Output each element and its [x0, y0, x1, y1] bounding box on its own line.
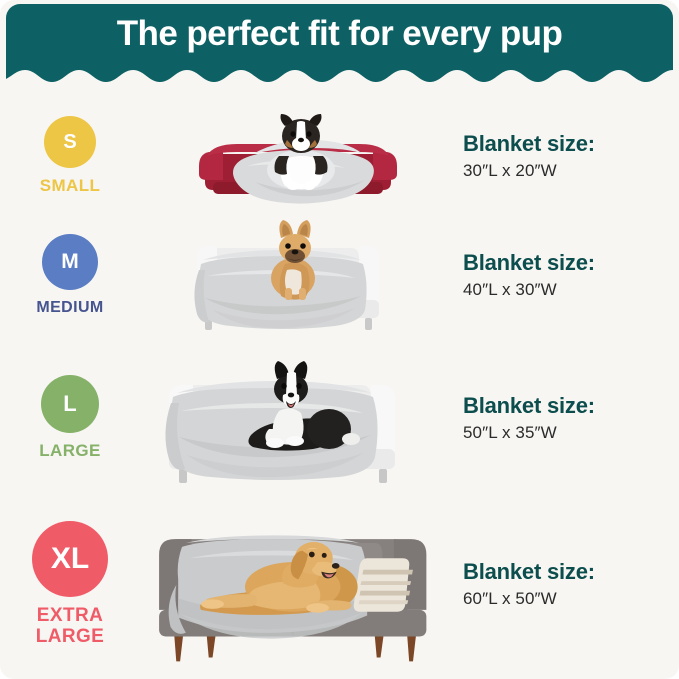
size-row-xl: XL EXTRA LARGE — [0, 490, 679, 679]
blanket-size-dimensions-small: 30″L x 20″W — [463, 161, 679, 181]
badge-label-medium: MEDIUM — [36, 299, 103, 316]
badge-letter-medium: M — [61, 251, 79, 272]
blanket-size-heading-small: Blanket size: — [463, 132, 679, 156]
badge-circle-medium: M — [42, 234, 98, 290]
badge-group-medium: M MEDIUM — [0, 234, 140, 316]
size-row-small: S SMALL — [0, 92, 679, 220]
size-chart-infographic: The perfect fit for every pup S SMALL — [0, 0, 679, 679]
badge-group-large: L LARGE — [0, 375, 140, 460]
size-text-medium: Blanket size: 40″L x 30″W — [455, 251, 679, 300]
striped-pillow — [354, 558, 413, 611]
badge-circle-small: S — [44, 116, 96, 168]
blanket-size-dimensions-medium: 40″L x 30″W — [463, 280, 679, 300]
badge-letter-large: L — [63, 393, 76, 415]
badge-group-xl: XL EXTRA LARGE — [0, 521, 140, 647]
product-image-small — [140, 96, 455, 216]
product-image-xl — [140, 495, 455, 675]
badge-letter-small: S — [63, 132, 76, 152]
blanket-size-heading-large: Blanket size: — [463, 394, 679, 418]
product-image-medium — [140, 206, 455, 344]
product-image-large — [140, 341, 455, 496]
badge-label-xl: EXTRA LARGE — [36, 606, 105, 647]
badge-label-xl-line1: EXTRA — [36, 606, 105, 627]
badge-letter-xl: XL — [51, 544, 89, 574]
size-text-small: Blanket size: 30″L x 20″W — [455, 132, 679, 181]
badge-label-xl-line2: LARGE — [36, 627, 105, 648]
blanket-size-heading-medium: Blanket size: — [463, 251, 679, 275]
size-text-large: Blanket size: 50″L x 35″W — [455, 394, 679, 443]
header-banner: The perfect fit for every pup — [0, 0, 679, 92]
medium-loveseat-illustration — [173, 206, 423, 344]
size-text-xl: Blanket size: 60″L x 50″W — [455, 560, 679, 609]
badge-circle-xl: XL — [32, 521, 108, 597]
badge-label-large: LARGE — [39, 442, 101, 460]
blanket-size-dimensions-xl: 60″L x 50″W — [463, 589, 679, 609]
page-title: The perfect fit for every pup — [0, 16, 679, 51]
badge-circle-large: L — [41, 375, 99, 433]
small-bed-illustration — [183, 96, 413, 216]
size-row-large: L LARGE — [0, 338, 679, 498]
badge-group-small: S SMALL — [0, 116, 140, 195]
size-row-medium: M MEDIUM — [0, 205, 679, 345]
blanket-size-heading-xl: Blanket size: — [463, 560, 679, 584]
badge-label-small: SMALL — [40, 177, 101, 195]
blanket-size-dimensions-large: 50″L x 35″W — [463, 423, 679, 443]
large-sofa-illustration — [153, 341, 443, 496]
xl-sofa-illustration — [140, 495, 455, 675]
